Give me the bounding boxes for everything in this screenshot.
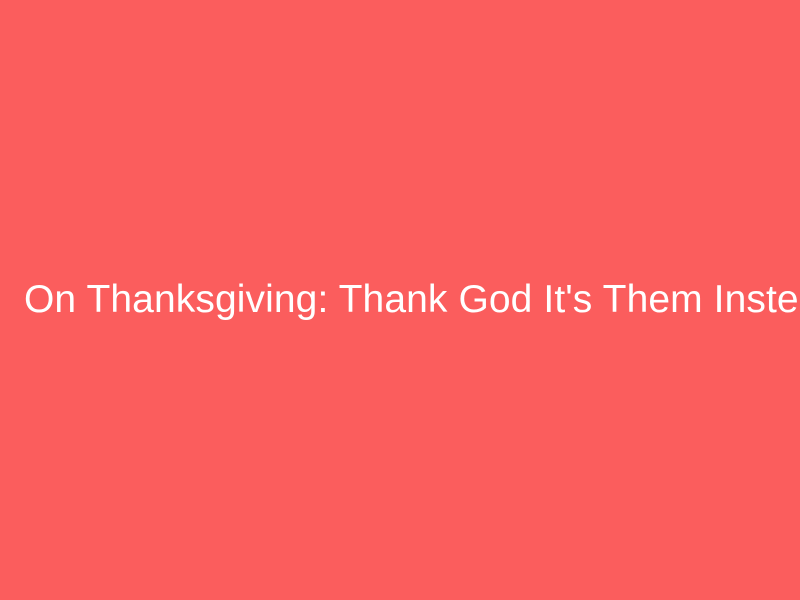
- share-card: On Thanksgiving: Thank God It's Them Ins…: [0, 0, 800, 600]
- card-title: On Thanksgiving: Thank God It's Them Ins…: [0, 277, 800, 323]
